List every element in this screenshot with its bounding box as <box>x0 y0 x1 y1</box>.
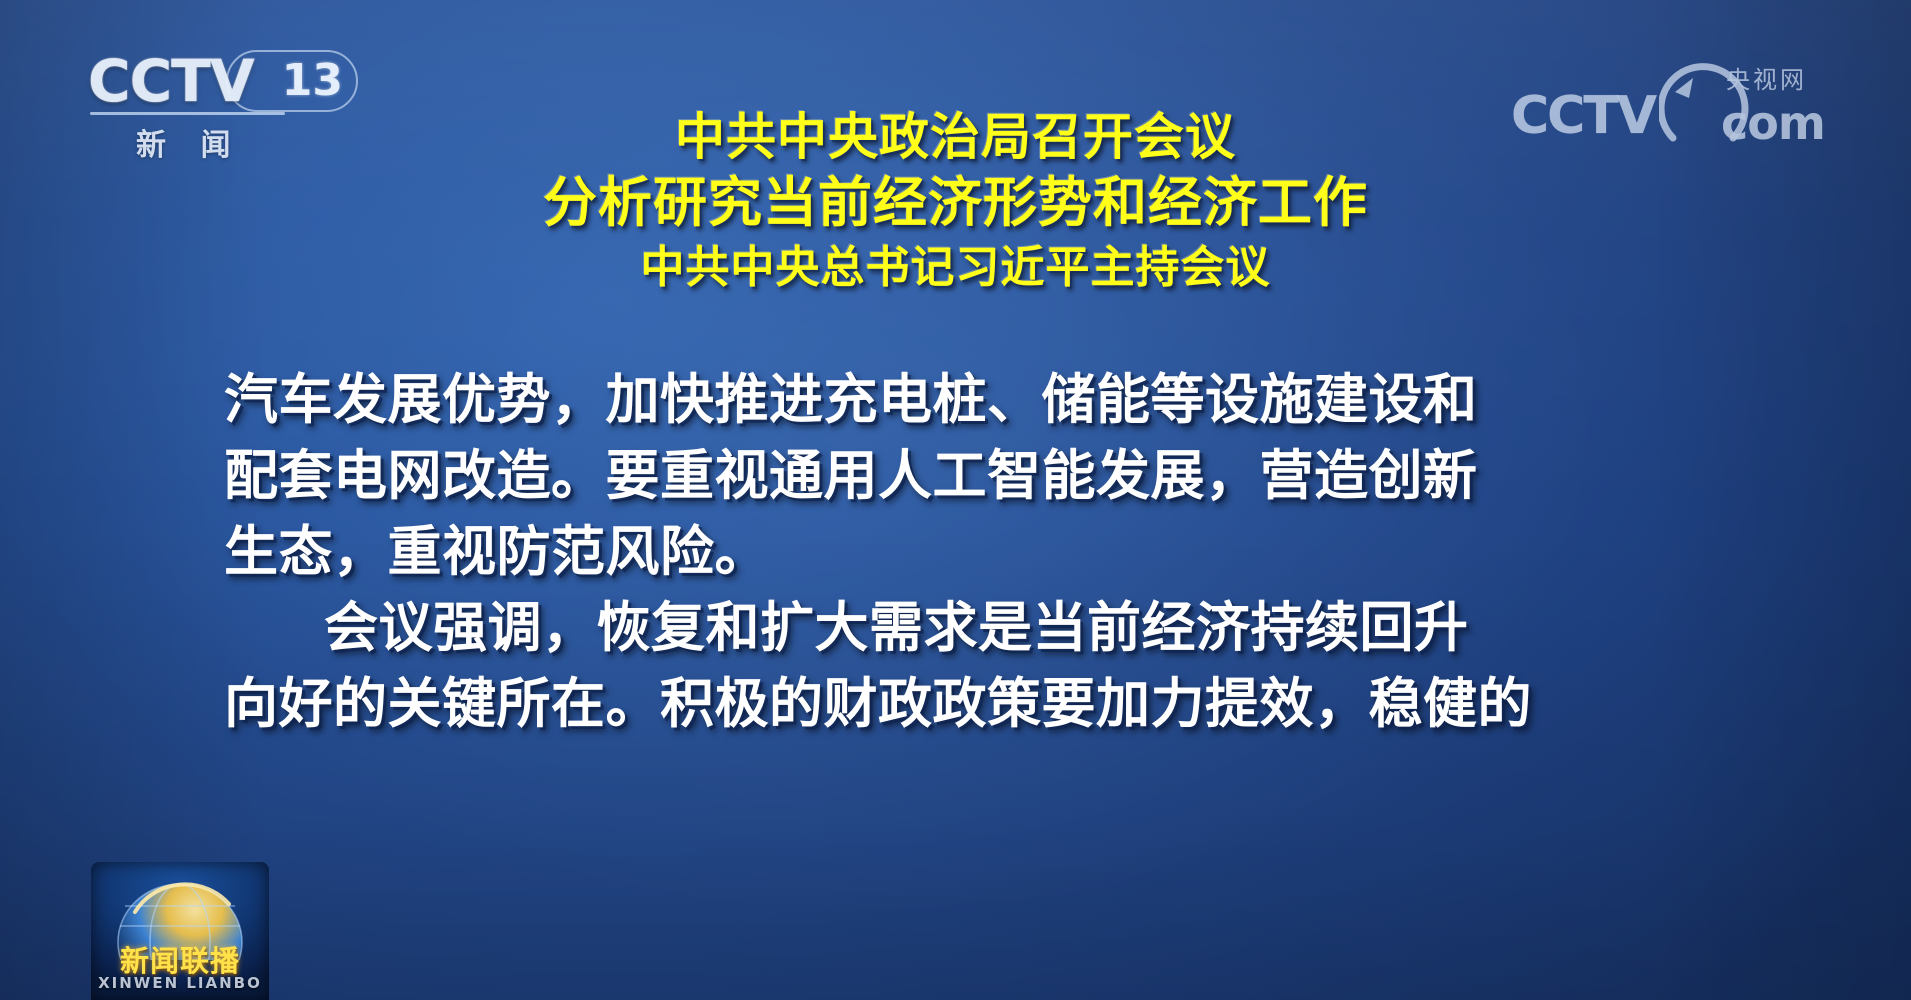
cctv-wordmark: CCTV <box>88 48 254 114</box>
channel-number: 13 <box>282 52 343 109</box>
cctv-com-watermark: CCTV 央视网 com <box>1511 48 1851 158</box>
channel-name-label: 新 闻 <box>136 120 242 164</box>
program-logo-xinwen-lianbo: 新闻联播 XINWEN LIANBO <box>91 862 269 1000</box>
news-body-text: 汽车发展优势，加快推进充电桩、储能等设施建设和 配套电网改造。要重视通用人工智能… <box>224 362 1711 742</box>
watermark-com-text: com <box>1721 96 1825 150</box>
channel-logo-row: 13 CCTV <box>88 48 378 114</box>
body-line: 向好的关键所在。积极的财政政策要加力提效，稳健的 <box>224 666 1711 742</box>
logo-underline-rule <box>90 112 285 115</box>
headline-line-2: 分析研究当前经济形势和经济工作 <box>0 176 1911 230</box>
watermark-cctv-text: CCTV <box>1511 86 1655 146</box>
body-line: 会议强调，恢复和扩大需求是当前经济持续回升 <box>224 590 1711 666</box>
body-line: 配套电网改造。要重视通用人工智能发展，营造创新 <box>224 438 1711 514</box>
watermark-cn-text: 央视网 <box>1726 60 1807 95</box>
body-line: 生态，重视防范风险。 <box>224 514 1711 590</box>
program-title-en: XINWEN LIANBO <box>91 974 269 992</box>
headline-line-3: 中共中央总书记习近平主持会议 <box>0 246 1911 290</box>
body-line: 汽车发展优势，加快推进充电桩、储能等设施建设和 <box>224 362 1711 438</box>
broadcast-screen: 13 CCTV 新 闻 CCTV 央视网 com 中共中央政治局召开会议 分析研… <box>0 0 1911 1000</box>
channel-logo-cctv13: 13 CCTV 新 闻 <box>88 48 378 168</box>
